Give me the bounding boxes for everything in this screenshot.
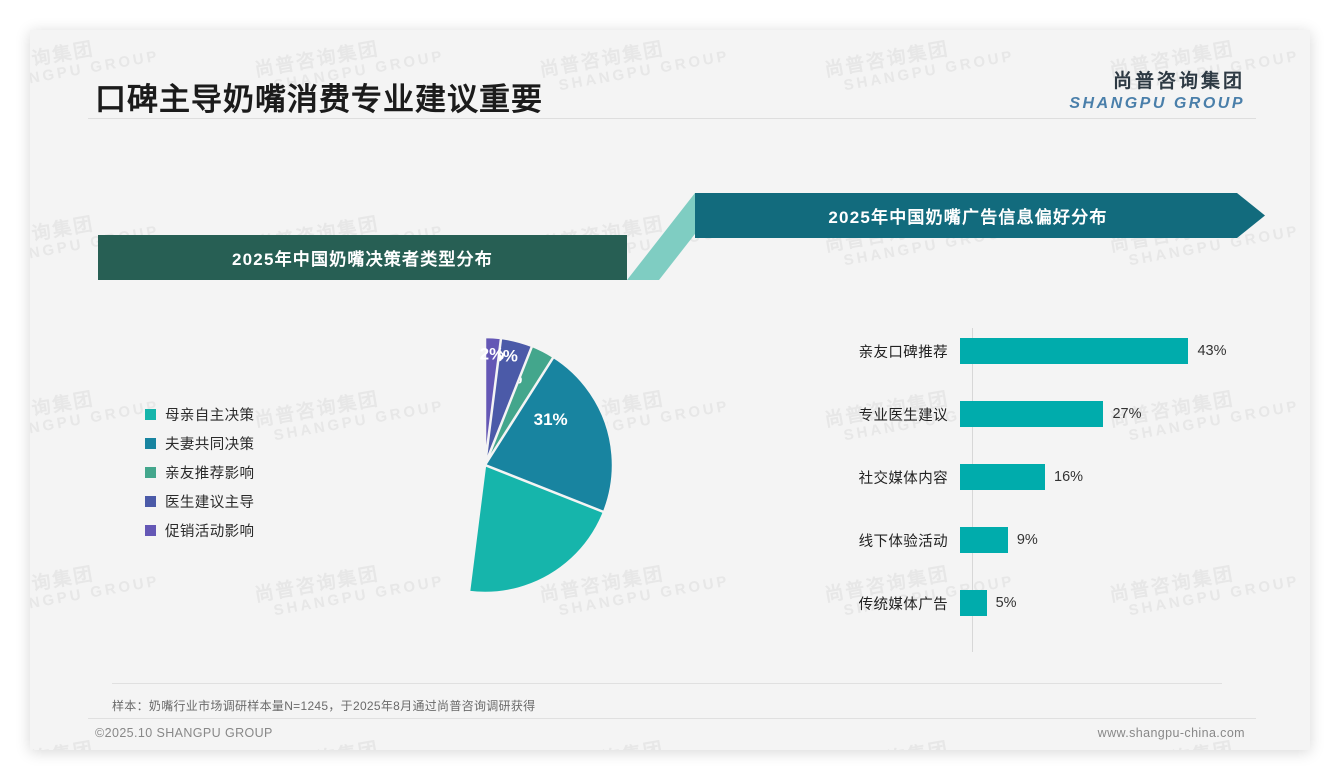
footnote-text: 样本：奶嘴行业市场调研样本量N=1245，于2025年8月通过尚普咨询调研获得 xyxy=(112,697,1222,714)
section-banners: 2025年中国奶嘴决策者类型分布 2025年中国奶嘴广告信息偏好分布 xyxy=(30,30,1310,750)
banner-right-label: 2025年中国奶嘴广告信息偏好分布 xyxy=(828,203,1107,228)
company-logo: 尚普咨询集团 SHANGPU GROUP xyxy=(1069,66,1245,113)
slide-header: 口碑主导奶嘴消费专业建议重要 尚普咨询集团 SHANGPU GROUP xyxy=(30,30,1310,125)
banner-right: 2025年中国奶嘴广告信息偏好分布 xyxy=(695,193,1265,238)
header-divider xyxy=(88,118,1256,119)
logo-english-text: SHANGPU GROUP xyxy=(1069,95,1245,113)
slide-footer: ©2025.10 SHANGPU GROUP www.shangpu-china… xyxy=(30,722,1310,750)
banner-left-label: 2025年中国奶嘴决策者类型分布 xyxy=(232,245,493,270)
banner-left: 2025年中国奶嘴决策者类型分布 xyxy=(98,235,627,280)
footnote-divider xyxy=(112,683,1222,684)
page-title: 口碑主导奶嘴消费专业建议重要 xyxy=(95,74,543,119)
footer-divider xyxy=(88,718,1256,719)
slide-canvas: 尚普咨询集团SHANGPU GROUP尚普咨询集团SHANGPU GROUP尚普… xyxy=(30,30,1310,750)
footer-copyright: ©2025.10 SHANGPU GROUP xyxy=(95,726,273,740)
logo-chinese-text: 尚普咨询集团 xyxy=(1069,66,1245,93)
footnote-block: 样本：奶嘴行业市场调研样本量N=1245，于2025年8月通过尚普咨询调研获得 xyxy=(112,683,1222,714)
footer-website-url: www.shangpu-china.com xyxy=(1098,726,1245,740)
